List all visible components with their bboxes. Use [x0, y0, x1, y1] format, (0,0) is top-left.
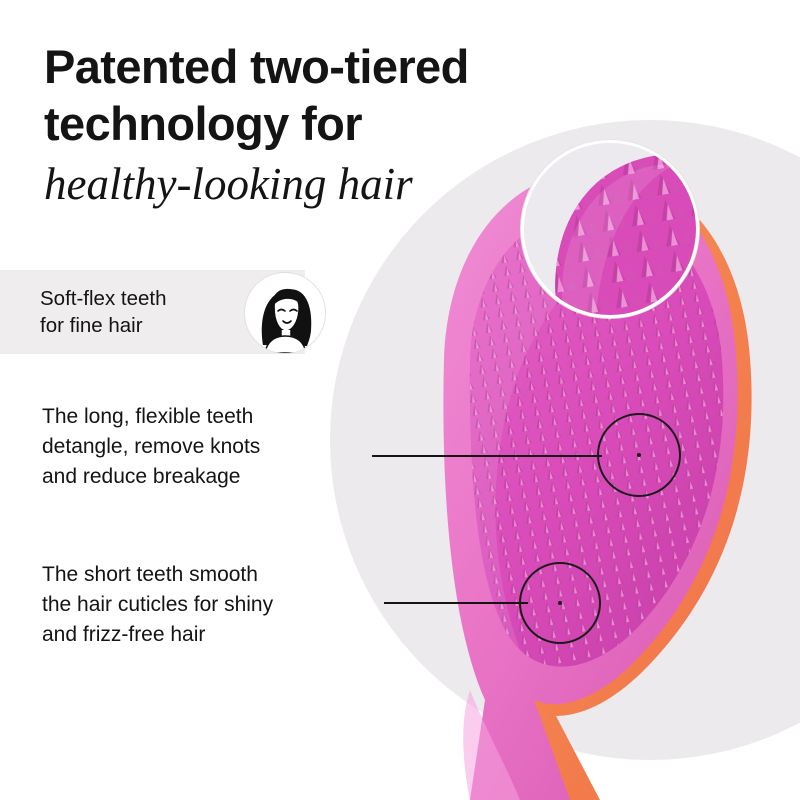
- headline-line-1: Patented two-tiered: [44, 38, 604, 95]
- leader-line-1: [372, 455, 602, 457]
- leader-line-2: [384, 602, 528, 604]
- annotation-2-line-2: the hair cuticles for shiny: [42, 590, 382, 620]
- zoom-detail-bubble: [521, 140, 699, 318]
- woman-face-illustration: [245, 273, 325, 353]
- target-circle-short-teeth: [519, 562, 601, 644]
- product-infographic: Patented two-tiered technology for healt…: [0, 0, 800, 800]
- target-dot-1: [637, 453, 641, 457]
- annotation-2-line-1: The short teeth smooth: [42, 560, 382, 590]
- soft-flex-line-1: Soft-flex teeth: [40, 285, 240, 312]
- woman-face-icon: [244, 272, 326, 354]
- headline-line-2: technology for: [44, 95, 604, 152]
- annotation-long-teeth: The long, flexible teeth detangle, remov…: [42, 402, 372, 492]
- headline-line-3-italic: healthy-looking hair: [44, 156, 604, 213]
- zoom-bristle-closeup: [524, 143, 696, 315]
- target-dot-2: [558, 601, 562, 605]
- annotation-2-line-3: and frizz-free hair: [42, 620, 382, 650]
- annotation-1-line-2: detangle, remove knots: [42, 432, 372, 462]
- annotation-1-line-1: The long, flexible teeth: [42, 402, 372, 432]
- soft-flex-line-2: for fine hair: [40, 312, 240, 339]
- headline-block: Patented two-tiered technology for healt…: [44, 38, 604, 213]
- annotation-1-line-3: and reduce breakage: [42, 462, 372, 492]
- target-circle-long-teeth: [597, 413, 681, 497]
- soft-flex-text: Soft-flex teeth for fine hair: [40, 285, 240, 339]
- annotation-short-teeth: The short teeth smooth the hair cuticles…: [42, 560, 382, 650]
